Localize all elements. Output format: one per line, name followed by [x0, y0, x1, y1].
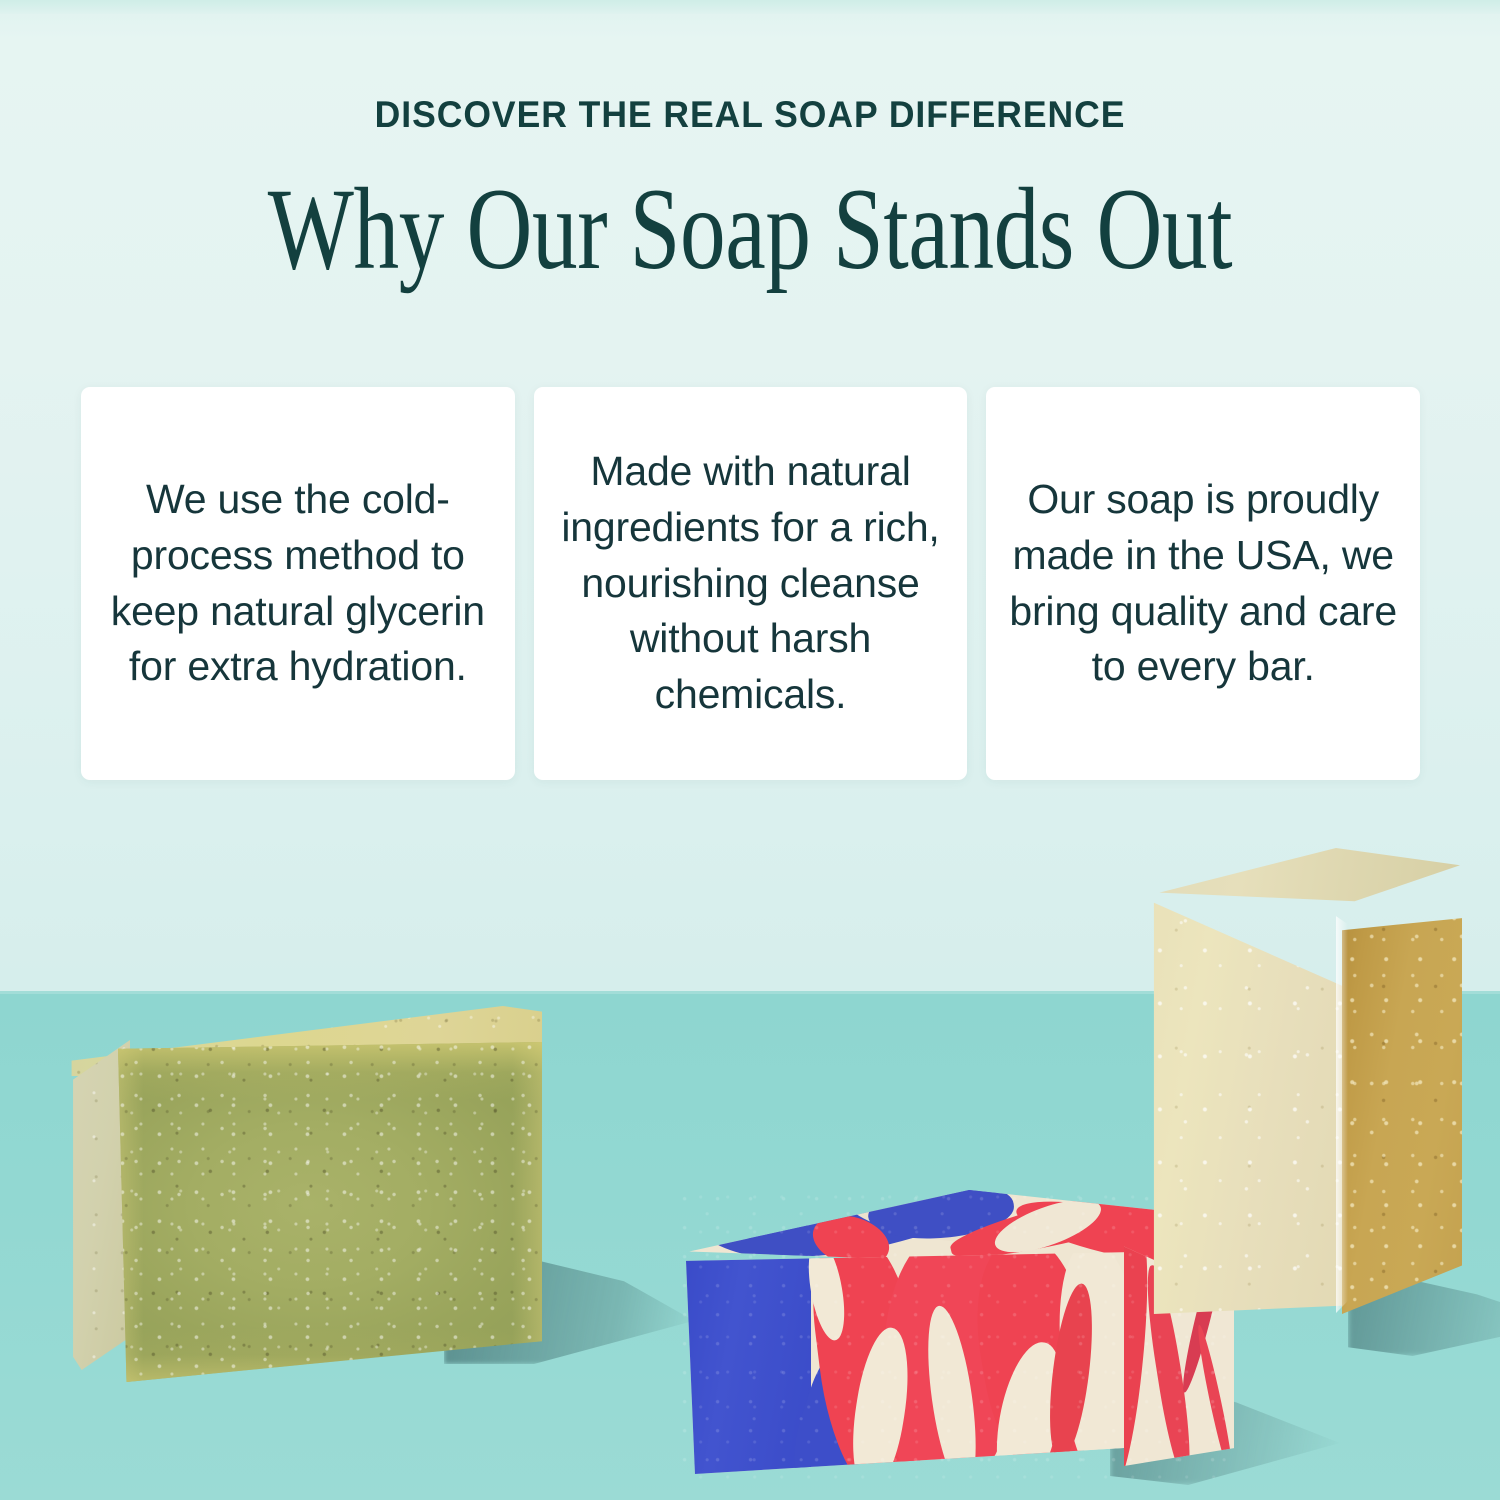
eyebrow-text: DISCOVER THE REAL SOAP DIFFERENCE — [30, 0, 1470, 133]
soap-front-texture — [118, 1042, 542, 1382]
green-herbal-soap-bar — [52, 1006, 542, 1376]
feature-card: We use the cold-process method to keep n… — [81, 387, 515, 780]
feature-card-list: We use the cold-process method to keep n… — [81, 387, 1420, 780]
soap-side-texture — [52, 1040, 130, 1370]
soap-top-face — [1150, 848, 1460, 920]
feature-card-text: Made with natural ingredients for a rich… — [552, 444, 950, 723]
promo-banner: DISCOVER THE REAL SOAP DIFFERENCE Why Ou… — [0, 0, 1500, 1500]
soap-edge-highlight — [1336, 908, 1348, 1313]
page-title: Why Our Soap Stands Out — [165, 133, 1335, 292]
feature-card-text: Our soap is proudly made in the USA, we … — [1004, 472, 1402, 695]
feature-card: Made with natural ingredients for a rich… — [534, 387, 968, 780]
cream-unscented-soap-bar — [1150, 848, 1460, 1314]
soap-front-texture — [1150, 890, 1346, 1314]
soap-front-face — [686, 1252, 1134, 1474]
feature-card: Our soap is proudly made in the USA, we … — [986, 387, 1420, 780]
header: DISCOVER THE REAL SOAP DIFFERENCE Why Ou… — [0, 0, 1500, 292]
soap-side-texture — [1342, 910, 1462, 1314]
feature-card-text: We use the cold-process method to keep n… — [99, 472, 497, 695]
